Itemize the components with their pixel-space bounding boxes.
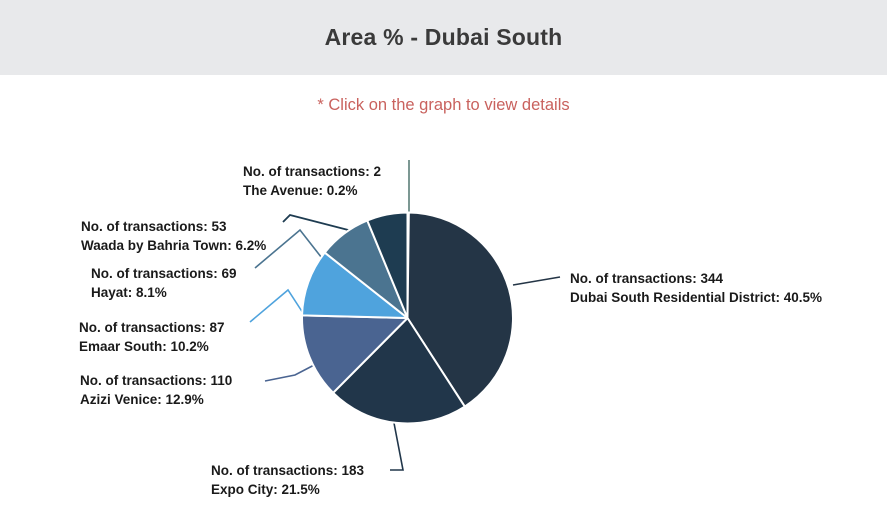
slice-label-percent: Expo City: 21.5% [211,480,364,499]
leader-line-azizi-venice [265,363,318,381]
slice-label-percent: Waada by Bahria Town: 6.2% [81,236,266,255]
leader-line-emaar-south [250,290,303,322]
slice-label-transactions: No. of transactions: 53 [81,219,227,234]
slice-label-transactions: No. of transactions: 344 [570,271,723,286]
slice-label-percent: Hayat: 8.1% [91,283,237,302]
slice-label-transactions: No. of transactions: 110 [80,373,232,388]
slice-label-transactions: No. of transactions: 69 [91,266,237,281]
pie-slices[interactable] [302,213,513,424]
slice-label-waada-by-bahria-town: No. of transactions: 53 Waada by Bahria … [81,217,266,255]
slice-label-the-avenue: No. of transactions: 2 The Avenue: 0.2% [243,162,381,200]
leader-line-dubai-south-residential-district [513,277,560,285]
leader-line-expo-city [390,423,403,470]
slice-label-azizi-venice: No. of transactions: 110 Azizi Venice: 1… [80,371,232,409]
slice-label-percent: Dubai South Residential District: 40.5% [570,288,822,307]
slice-label-percent: The Avenue: 0.2% [243,181,381,200]
slice-label-hayat: No. of transactions: 69 Hayat: 8.1% [91,264,237,302]
slice-label-percent: Emaar South: 10.2% [79,337,225,356]
slice-label-transactions: No. of transactions: 183 [211,463,364,478]
slice-label-emaar-south: No. of transactions: 87 Emaar South: 10.… [79,318,225,356]
leader-line-waada-by-bahria-town [283,215,356,232]
slice-label-transactions: No. of transactions: 2 [243,164,381,179]
slice-label-dubai-south-residential-district: No. of transactions: 344 Dubai South Res… [570,269,822,307]
pie-chart-svg[interactable] [0,0,887,518]
pie-chart[interactable]: No. of transactions: 2 The Avenue: 0.2% … [0,0,887,518]
slice-label-expo-city: No. of transactions: 183 Expo City: 21.5… [211,461,364,499]
slice-label-percent: Azizi Venice: 12.9% [80,390,232,409]
slice-label-transactions: No. of transactions: 87 [79,320,225,335]
